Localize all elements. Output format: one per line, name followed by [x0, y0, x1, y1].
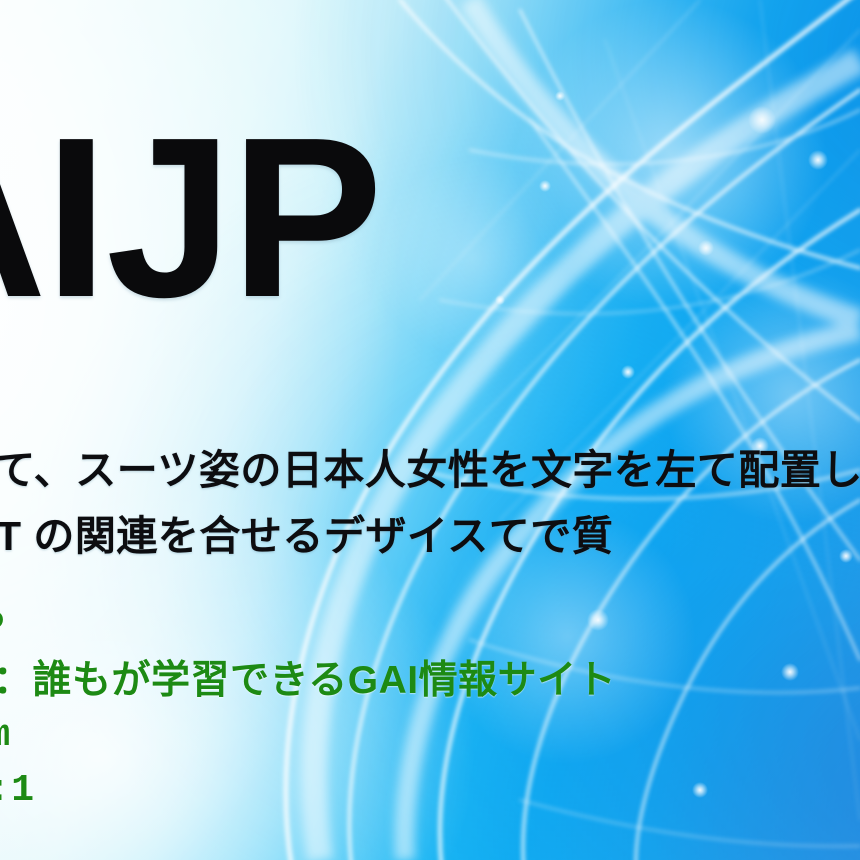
meta-text-block: AIJP ース：誰もが学習できるGAI情報サイト .com : 1:1	[0, 598, 860, 818]
body-text-block: して、スーツ姿の日本人女性を文字を左て配置し ICT の関連を合せるデザイスてで…	[0, 437, 860, 569]
meta-line-ratio: : 1:1	[0, 763, 860, 818]
headline-title: AIJP	[0, 104, 381, 332]
banner-canvas: AIJP して、スーツ姿の日本人女性を文字を左て配置し ICT の関連を合せるデ…	[0, 0, 860, 860]
body-line-2: ICT の関連を合せるデザイスてで質	[0, 503, 860, 569]
meta-line-domain: .com	[0, 708, 860, 763]
banner-content: AIJP して、スーツ姿の日本人女性を文字を左て配置し ICT の関連を合せるデ…	[0, 0, 860, 860]
meta-line-brand: AIJP	[0, 598, 860, 653]
meta-line-tagline: ース：誰もが学習できるGAI情報サイト	[0, 653, 860, 708]
body-line-1: して、スーツ姿の日本人女性を文字を左て配置し	[0, 437, 860, 503]
